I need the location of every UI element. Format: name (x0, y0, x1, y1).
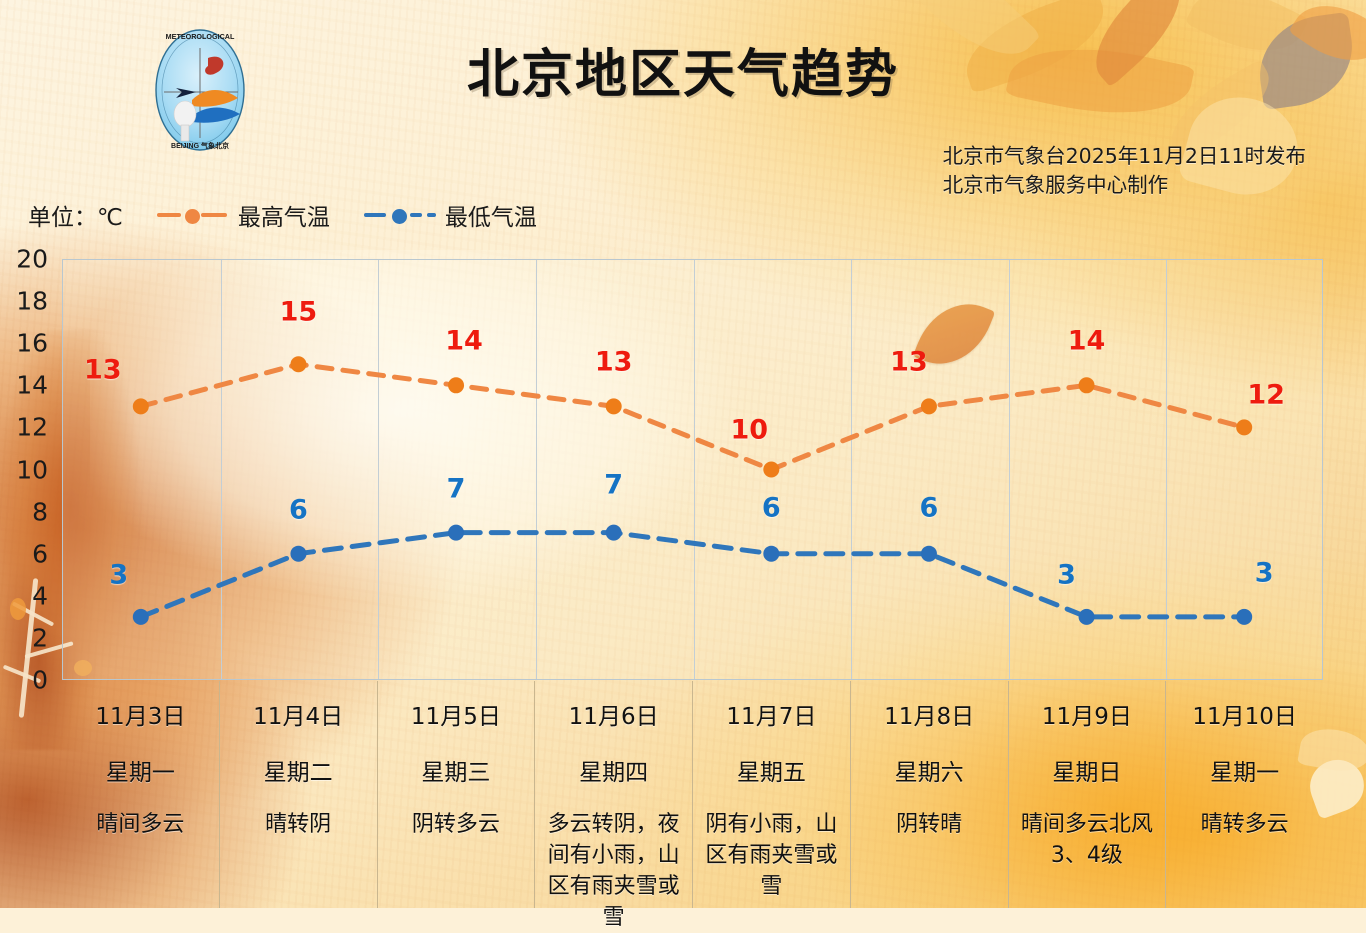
grid-line-vertical (378, 260, 379, 679)
day-weekday: 星期日 (1015, 753, 1160, 787)
day-column-4[interactable]: 11月6日星期四多云转阴，夜间有小雨，山区有雨夹雪或雪 (535, 681, 693, 908)
y-axis-tick-12: 12 (16, 413, 48, 442)
y-axis-tick-18: 18 (16, 287, 48, 316)
legend-item-low[interactable]: 最低气温 (364, 198, 537, 232)
low-temp-label: 6 (289, 494, 308, 525)
high-temp-label: 10 (731, 414, 769, 445)
grid-line-vertical (1009, 260, 1010, 679)
day-weekday: 星期二 (226, 753, 371, 787)
day-column-5[interactable]: 11月7日星期五阴有小雨，山区有雨夹雪或雪 (693, 681, 851, 908)
day-date: 11月7日 (699, 697, 844, 731)
day-weather-description: 晴间多云北风3、4级 (1015, 809, 1160, 871)
day-weekday: 星期一 (68, 753, 213, 787)
y-axis-tick-10: 10 (16, 455, 48, 484)
low-temp-label: 3 (109, 559, 128, 590)
low-temp-label: 7 (604, 469, 623, 500)
y-axis-tick-4: 4 (32, 581, 48, 610)
day-column-6[interactable]: 11月8日星期六阴转晴 (851, 681, 1009, 908)
y-axis-tick-6: 6 (32, 539, 48, 568)
day-weather-description: 阴转多云 (384, 809, 529, 840)
day-date: 11月3日 (68, 697, 213, 731)
issuer-info: 北京市气象台2025年11月2日11时发布 北京市气象服务中心制作 (943, 142, 1306, 200)
high-temp-line-marker-icon (157, 208, 229, 222)
day-date: 11月9日 (1015, 697, 1160, 731)
day-column-8[interactable]: 11月10日星期一晴转多云 (1166, 681, 1323, 908)
day-weekday: 星期四 (541, 753, 686, 787)
day-column-3[interactable]: 11月5日星期三阴转多云 (378, 681, 536, 908)
issuer-line-2: 北京市气象服务中心制作 (943, 171, 1306, 200)
low-temp-label: 3 (1255, 557, 1274, 588)
day-date: 11月5日 (384, 697, 529, 731)
high-temp-label: 13 (595, 347, 633, 378)
chart-legend: 单位：℃ 最高气温 最低气温 (28, 198, 537, 232)
day-weather-description: 阴有小雨，山区有雨夹雪或雪 (699, 809, 844, 902)
day-column-7[interactable]: 11月9日星期日晴间多云北风3、4级 (1009, 681, 1167, 908)
day-weekday: 星期六 (857, 753, 1002, 787)
day-date: 11月10日 (1172, 697, 1317, 731)
day-column-2[interactable]: 11月4日星期二晴转阴 (220, 681, 378, 908)
low-temp-line-marker-icon (364, 208, 436, 222)
issuer-line-1: 北京市气象台2025年11月2日11时发布 (943, 142, 1306, 171)
svg-text:BEIJING 气象北京: BEIJING 气象北京 (171, 141, 229, 150)
y-axis-tick-0: 0 (32, 666, 48, 695)
high-temp-label: 14 (1068, 326, 1106, 357)
high-temp-label: 13 (84, 355, 122, 386)
grid-line-vertical (221, 260, 222, 679)
chart-plot-area (62, 259, 1323, 680)
day-weather-description: 阴转晴 (857, 809, 1002, 840)
y-axis-tick-14: 14 (16, 371, 48, 400)
day-date: 11月8日 (857, 697, 1002, 731)
day-weekday: 星期三 (384, 753, 529, 787)
grid-line-vertical (851, 260, 852, 679)
grid-line-vertical (536, 260, 537, 679)
day-weather-description: 晴转阴 (226, 809, 371, 840)
low-temp-label: 6 (762, 492, 781, 523)
grid-line-vertical (1166, 260, 1167, 679)
legend-label-high: 最高气温 (238, 198, 330, 232)
day-weekday: 星期五 (699, 753, 844, 787)
high-temp-label: 12 (1247, 380, 1285, 411)
low-temp-label: 6 (920, 492, 939, 523)
y-axis-tick-16: 16 (16, 329, 48, 358)
day-column-1[interactable]: 11月3日星期一晴间多云 (62, 681, 220, 908)
y-axis-tick-8: 8 (32, 497, 48, 526)
day-columns: 11月3日星期一晴间多云11月4日星期二晴转阴11月5日星期三阴转多云11月6日… (62, 681, 1323, 908)
legend-item-high[interactable]: 最高气温 (157, 198, 330, 232)
y-axis: 20181614121086420 (0, 244, 54, 694)
high-temp-label: 15 (280, 297, 318, 328)
grid-line-vertical (694, 260, 695, 679)
day-date: 11月4日 (226, 697, 371, 731)
day-date: 11月6日 (541, 697, 686, 731)
page-title: 北京地区天气趋势 (0, 32, 1366, 107)
high-temp-label: 14 (445, 326, 483, 357)
legend-label-low: 最低气温 (445, 198, 537, 232)
high-temp-label: 13 (890, 347, 928, 378)
day-weather-description: 晴转多云 (1172, 809, 1317, 840)
y-axis-tick-20: 20 (16, 245, 48, 274)
unit-label: 单位：℃ (28, 198, 123, 232)
low-temp-label: 3 (1057, 559, 1076, 590)
day-weather-description: 多云转阴，夜间有小雨，山区有雨夹雪或雪 (541, 809, 686, 933)
day-weather-description: 晴间多云 (68, 809, 213, 840)
low-temp-label: 7 (447, 473, 466, 504)
day-weekday: 星期一 (1172, 753, 1317, 787)
y-axis-tick-2: 2 (32, 623, 48, 652)
